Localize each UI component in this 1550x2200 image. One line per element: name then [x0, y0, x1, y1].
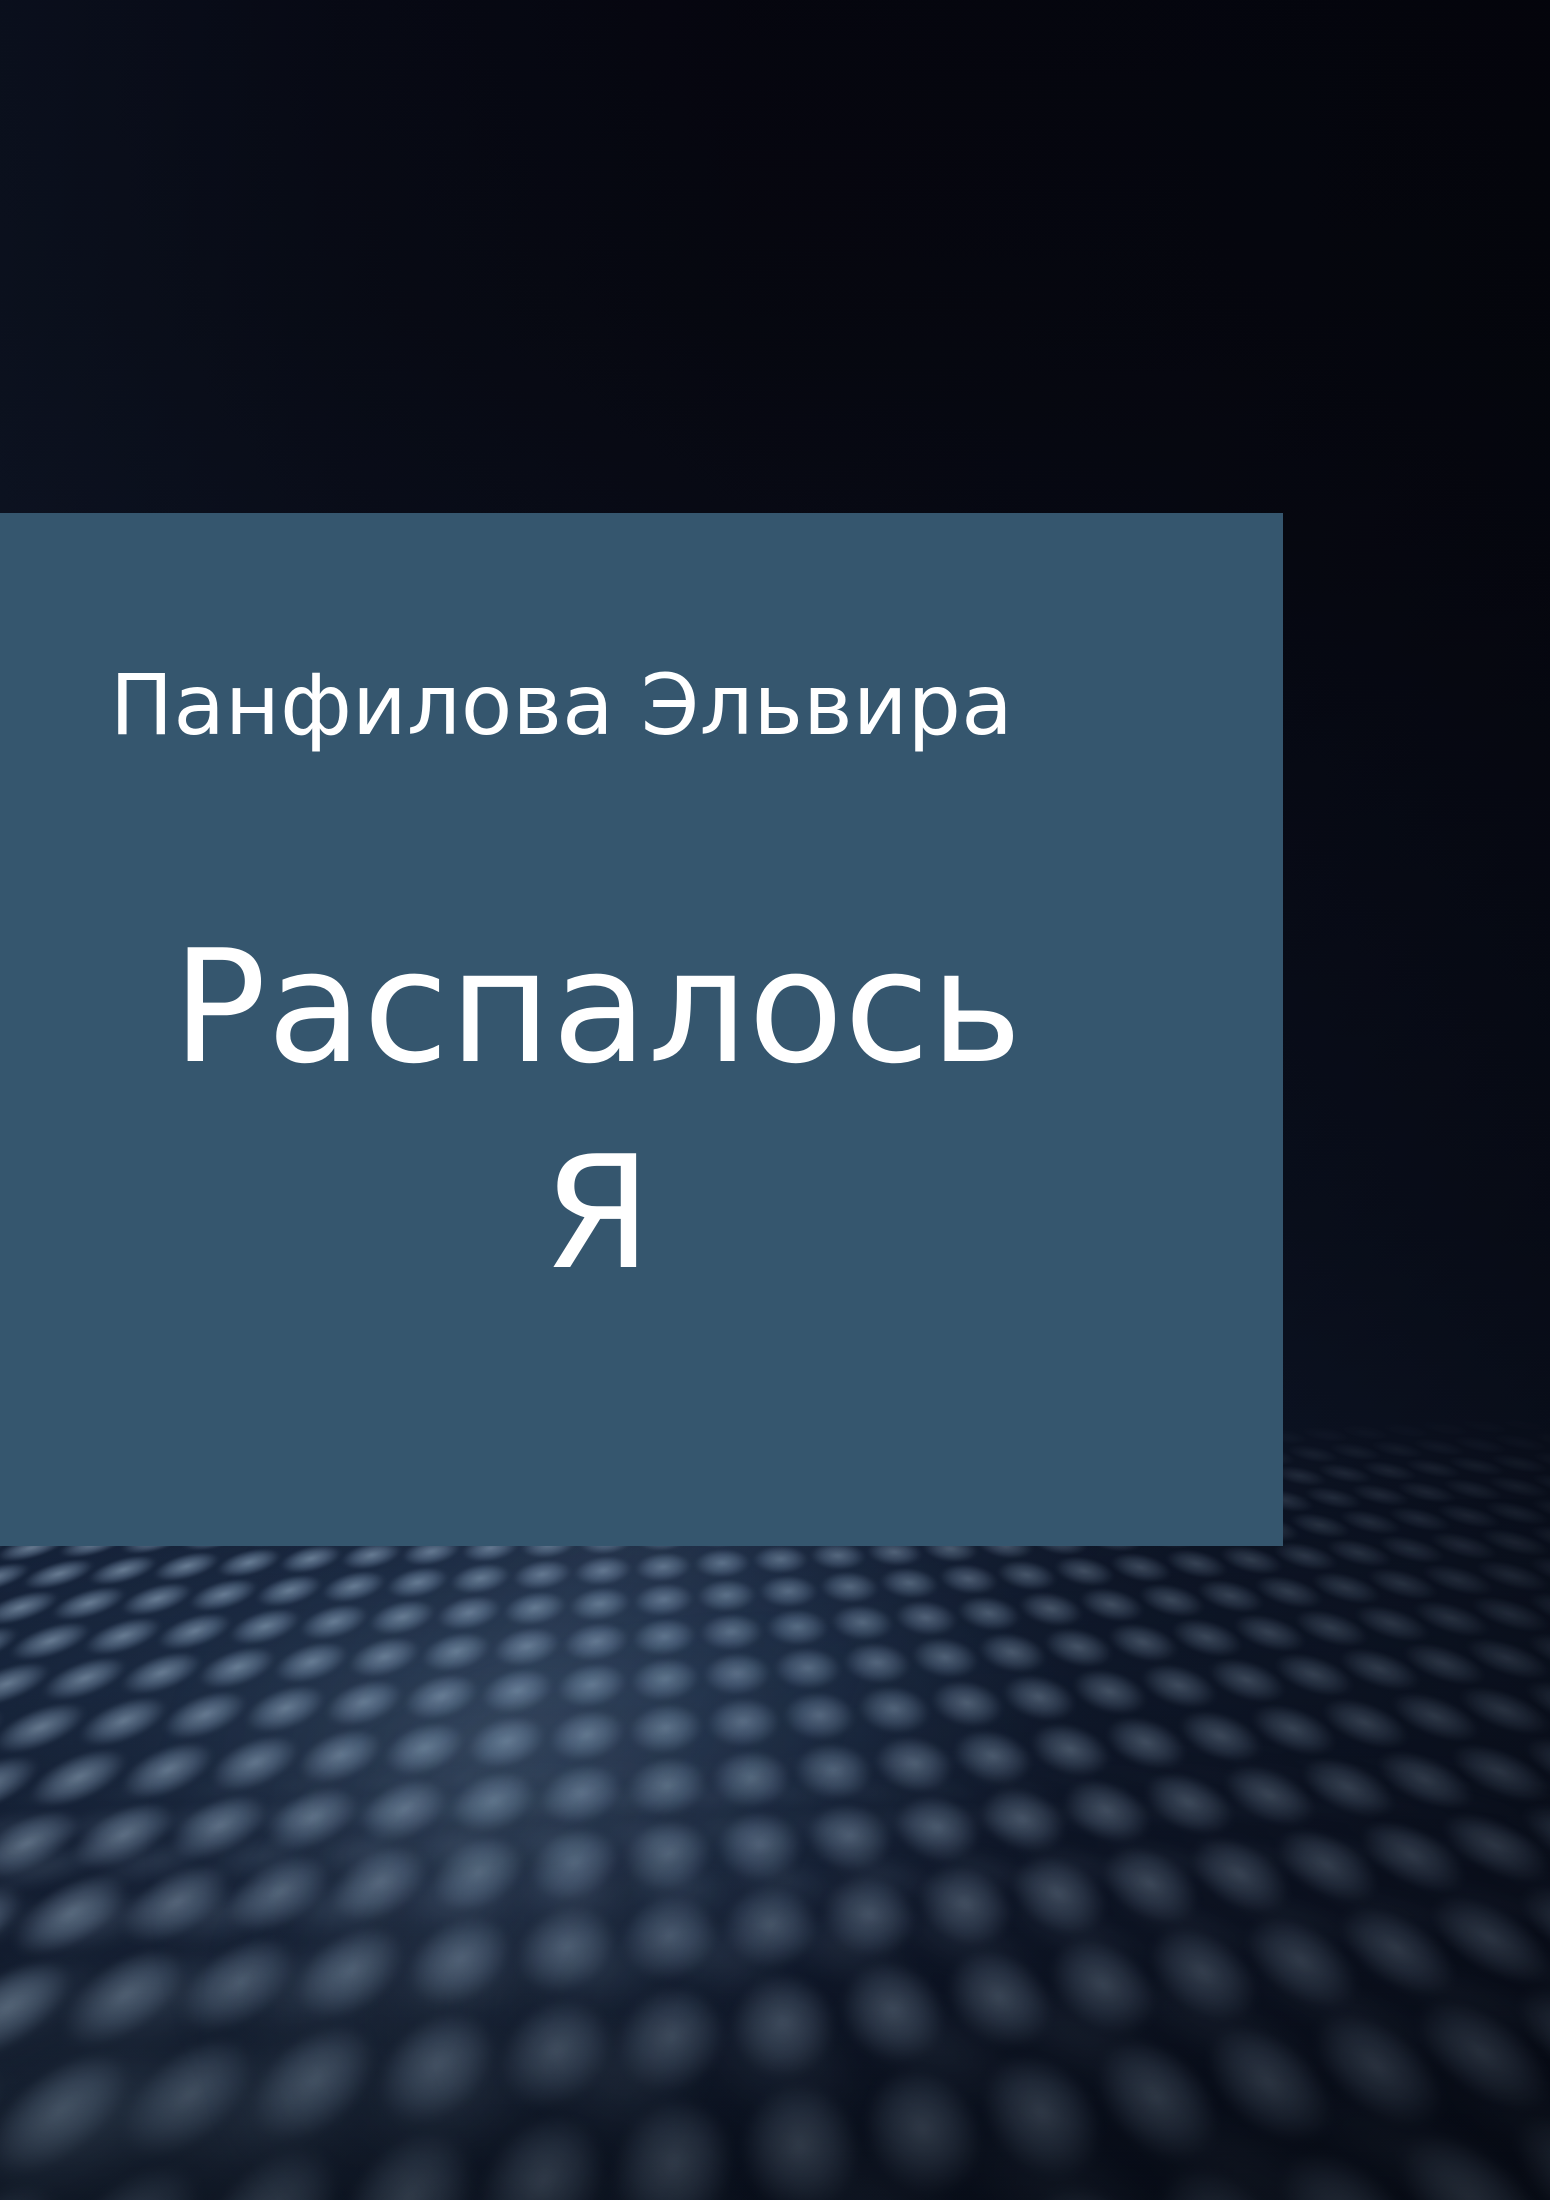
book-cover: Панфилова Эльвира Распалось Я — [0, 0, 1550, 2200]
book-title-line-2: Я — [0, 1111, 1195, 1317]
book-title-line-1: Распалось — [0, 905, 1195, 1111]
author-name: Панфилова Эльвира — [110, 663, 1013, 747]
book-title: Распалось Я — [0, 905, 1195, 1317]
